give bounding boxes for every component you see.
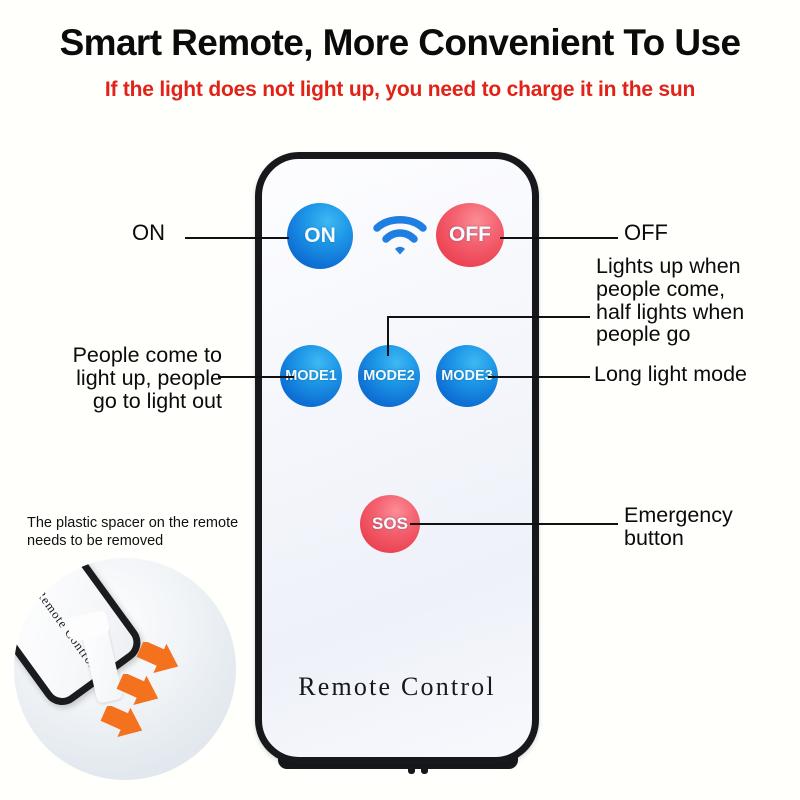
callout-label-sos: Emergency button xyxy=(624,504,794,550)
callout-line-mode3 xyxy=(488,376,590,378)
callout-label-mode1: People come to light up, people go to li… xyxy=(32,344,222,412)
callout-line-on xyxy=(185,237,289,239)
on-button[interactable]: ON xyxy=(287,203,353,269)
page-title: Smart Remote, More Convenient To Use xyxy=(0,22,800,64)
inset-caption: The plastic spacer on the remote needs t… xyxy=(27,515,257,551)
callout-line-off xyxy=(500,237,618,239)
infographic-canvas: Smart Remote, More Convenient To Use If … xyxy=(0,0,800,800)
wifi-signal-icon xyxy=(372,212,428,258)
callout-label-on: ON xyxy=(132,221,165,244)
callout-line-sos xyxy=(410,523,618,525)
off-button[interactable]: OFF xyxy=(436,203,504,267)
callout-label-mode3: Long light mode xyxy=(594,363,747,386)
callout-line-mode2-horizontal xyxy=(387,316,590,318)
callout-label-off: OFF xyxy=(624,221,668,244)
callout-line-mode2-vertical xyxy=(387,316,389,356)
inset-photo-spacer-removal: Remote Control xyxy=(14,558,236,780)
callout-label-mode2: Lights up when people come, half lights … xyxy=(596,255,796,346)
mode2-button[interactable]: MODE2 xyxy=(358,345,420,407)
remote-wordmark: Remote Control xyxy=(255,672,539,702)
callout-line-mode1 xyxy=(218,376,294,378)
page-subtitle: If the light does not light up, you need… xyxy=(0,78,800,102)
